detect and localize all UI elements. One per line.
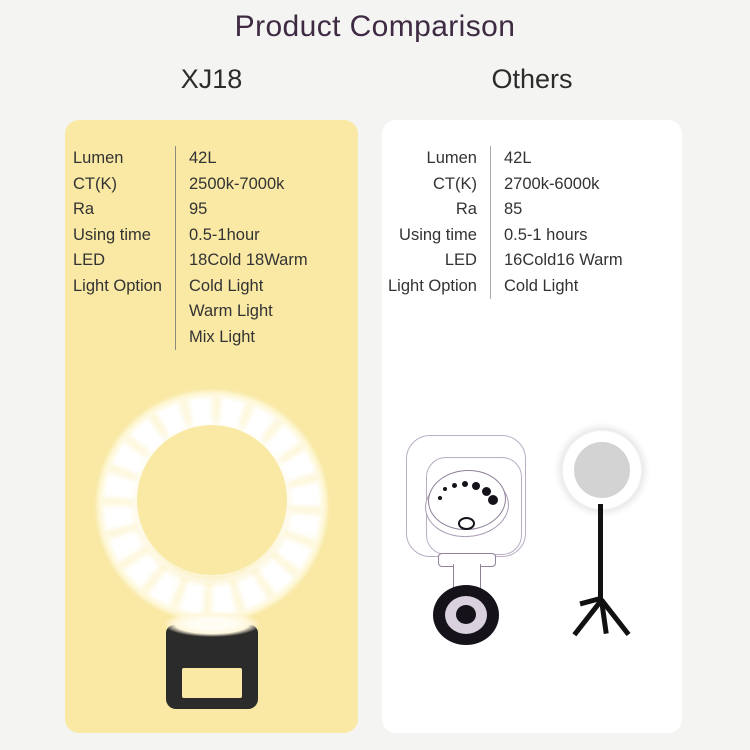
spec-value: 42L [504, 146, 623, 172]
spec-label: CT(K) [73, 172, 162, 198]
phone-clip-window [182, 668, 242, 698]
spec-values-column: 42L 2500k-7000k 95 0.5-1hour 18Cold 18Wa… [176, 146, 308, 350]
spec-value: 42L [189, 146, 308, 172]
tripod-ring-head [562, 430, 642, 510]
product-image-tripod-ring-light [542, 430, 662, 660]
spec-value: Cold Light [504, 274, 623, 300]
spec-label: Lumen [73, 146, 162, 172]
spec-label: Ra [388, 197, 477, 223]
page-title: Product Comparison [0, 10, 750, 44]
ring-light-center-hole [137, 425, 287, 575]
spec-value: 2700k-6000k [504, 172, 623, 198]
column-heading-others: Others [382, 64, 682, 95]
spec-label: Light Option [388, 274, 477, 300]
tripod-pole [598, 504, 603, 604]
spec-label: Lumen [388, 146, 477, 172]
led-dot-icon [443, 487, 447, 491]
product-panel-others: Lumen CT(K) Ra Using time LED Light Opti… [382, 120, 682, 733]
spec-value: 16Cold16 Warm [504, 248, 623, 274]
spec-value-extra: Warm Light [189, 299, 308, 325]
spec-label: Light Option [73, 274, 162, 300]
square-light-small-ring [458, 517, 475, 530]
spec-label: Using time [73, 223, 162, 249]
spec-values-column: 42L 2700k-6000k 85 0.5-1 hours 16Cold16 … [491, 146, 623, 299]
spec-value-extra: Mix Light [189, 325, 308, 351]
spec-table-xj18: Lumen CT(K) Ra Using time LED Light Opti… [73, 146, 308, 350]
square-light-clamp-center [456, 605, 476, 624]
led-dot-icon [462, 481, 468, 487]
spec-label: LED [73, 248, 162, 274]
product-panel-xj18: Lumen CT(K) Ra Using time LED Light Opti… [65, 120, 358, 733]
spec-table-others: Lumen CT(K) Ra Using time LED Light Opti… [388, 146, 623, 299]
spec-value: 18Cold 18Warm [189, 248, 308, 274]
column-heading-xj18: XJ18 [65, 64, 358, 95]
led-dot-icon [472, 482, 480, 490]
spec-value: 2500k-7000k [189, 172, 308, 198]
spec-value: 0.5-1 hours [504, 223, 623, 249]
spec-value: 85 [504, 197, 623, 223]
spec-value: 95 [189, 197, 308, 223]
spec-value: Cold Light [189, 274, 308, 300]
led-dot-icon [438, 496, 442, 500]
spec-label: LED [388, 248, 477, 274]
led-dot-icon [488, 495, 498, 505]
spec-label: Ra [73, 197, 162, 223]
spec-label: Using time [388, 223, 477, 249]
product-image-square-clip-light [402, 435, 532, 660]
product-image-ring-light-clip [63, 382, 360, 702]
phone-clip-body [166, 625, 258, 709]
spec-labels-column: Lumen CT(K) Ra Using time LED Light Opti… [73, 146, 175, 350]
tripod-leg [572, 599, 603, 636]
spec-label: CT(K) [388, 172, 477, 198]
spec-value: 0.5-1hour [189, 223, 308, 249]
led-dot-icon [452, 483, 457, 488]
spec-labels-column: Lumen CT(K) Ra Using time LED Light Opti… [388, 146, 490, 299]
